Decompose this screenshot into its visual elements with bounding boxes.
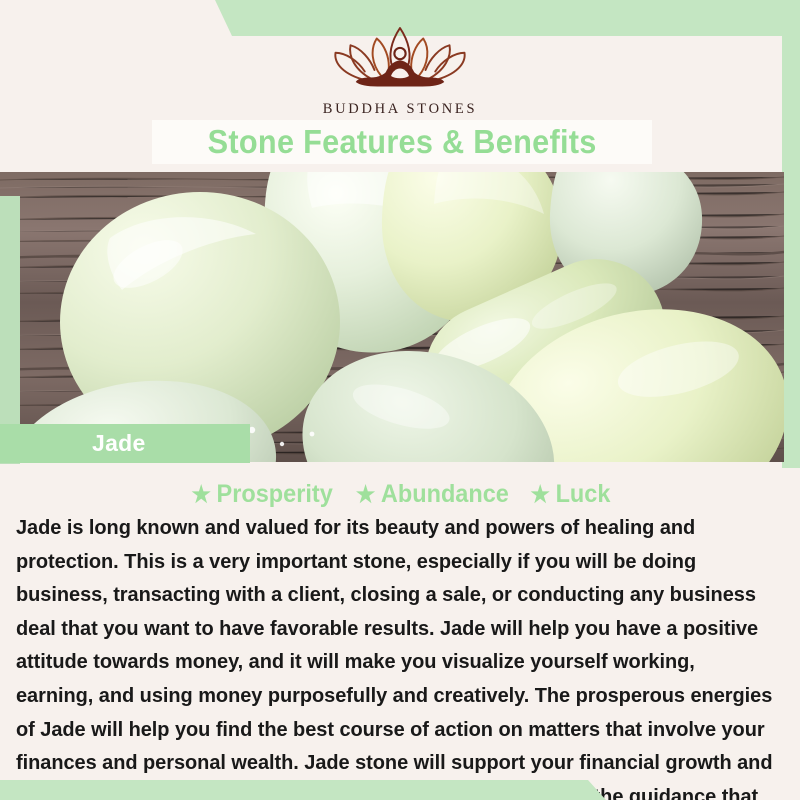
benefit-label: Prosperity [217,480,333,509]
brand-logo: BUDDHA STONES [0,22,800,118]
stone-name-badge: Jade [0,424,250,463]
description-text: Jade is long known and valued for its be… [16,512,776,800]
brand-name: BUDDHA STONES [323,101,477,118]
star-icon: ★ [531,483,550,506]
star-icon: ★ [356,483,375,506]
stone-name: Jade [92,430,146,457]
benefit-label: Luck [556,480,611,509]
page-title: Stone Features & Benefits [207,123,596,161]
benefit-label: Abundance [381,480,509,509]
stone-description: Jade is long known and valued for its be… [16,512,776,800]
jade-stones-illustration [0,172,784,462]
benefit-item: ★ Abundance [356,480,509,509]
benefit-item: ★ Luck [531,480,611,509]
benefit-item: ★ Prosperity [191,480,332,509]
jade-stones-photo [0,172,784,462]
star-icon: ★ [191,483,210,506]
infographic-page: BUDDHA STONES Stone Features & Benefits [0,0,800,800]
page-title-strip: Stone Features & Benefits [152,120,652,164]
benefits-row: ★ Prosperity ★ Abundance ★ Luck [0,478,800,510]
header: BUDDHA STONES Stone Features & Benefits [0,0,800,172]
lotus-meditation-icon [325,22,475,94]
